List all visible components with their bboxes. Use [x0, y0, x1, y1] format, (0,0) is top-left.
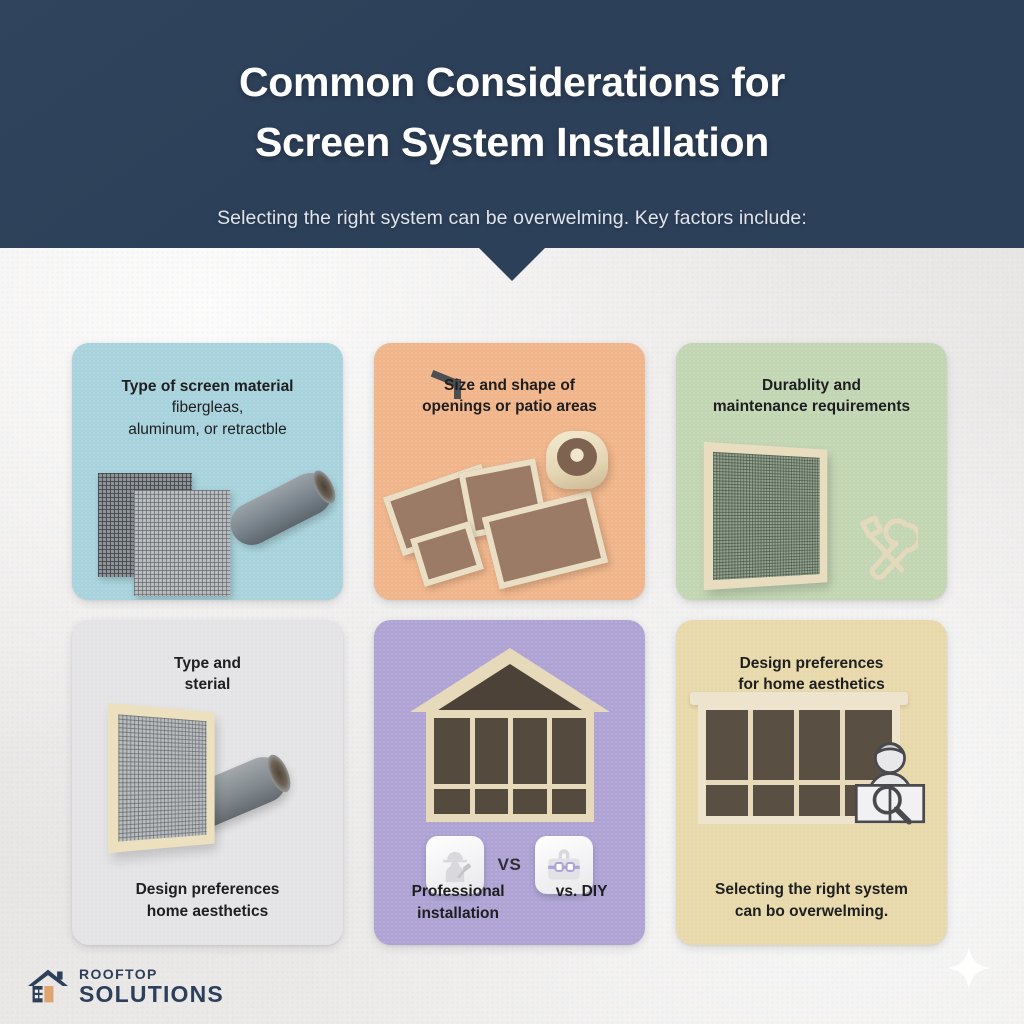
card-bottom-line-1: Design preferences [84, 879, 331, 901]
framed-screen-panel [108, 703, 215, 853]
card-bottom-text-block: Professional installation vs. DIY [374, 881, 645, 925]
card-top-line-1: Type and [86, 653, 329, 674]
window-mullion [748, 710, 753, 816]
tape-spool [557, 438, 597, 476]
inspector-with-magnifier-icon [849, 738, 931, 826]
logo-text-top: ROOFTOP [79, 967, 224, 981]
bottom-left-line-2: installation [412, 903, 505, 925]
card-screen-material[interactable]: Type of screen material fibergleas, alum… [72, 343, 343, 600]
card-title: Type of screen material [86, 376, 329, 397]
card-text-block: Type and sterial [72, 620, 343, 695]
screened-porch [398, 648, 622, 828]
card-title-line-1: Size and shape of [388, 375, 631, 396]
mesh-roll [223, 466, 338, 552]
card-title-line-2: for home aesthetics [690, 674, 933, 695]
card-text-block: Durablity and maintenance requirements [676, 343, 947, 417]
rooftop-house-icon [26, 966, 70, 1006]
card-top-line-2: sterial [86, 674, 329, 695]
header-notch-arrow [479, 248, 545, 281]
card-type-and-material[interactable]: Type and sterial Design preferences home… [72, 620, 343, 945]
card-design-preferences[interactable]: Design preferences for home aesthetics [676, 620, 947, 945]
porch-screen-wall [426, 710, 594, 822]
card-title-line-2: openings or patio areas [388, 396, 631, 417]
page-title: Common Considerations for Screen System … [0, 0, 1024, 172]
professional-installation-label: Professional installation [412, 881, 505, 925]
logo-text-bottom: SOLUTIONS [79, 983, 224, 1006]
logo-wordmark: ROOFTOP SOLUTIONS [79, 967, 224, 1006]
vs-label: VS [498, 855, 522, 875]
card-title-line-1: Design preferences [690, 653, 933, 674]
mesh-panel-light [134, 490, 230, 596]
window-mullion [794, 710, 799, 816]
page-header: Common Considerations for Screen System … [0, 0, 1024, 248]
card-text-block: Size and shape of openings or patio area… [374, 343, 645, 417]
card-title-line-1: Durablity and [690, 375, 933, 396]
card-bottom-line-2: home aesthetics [84, 901, 331, 923]
card-bottom-line-1: Selecting the right system [688, 879, 935, 901]
porch-mullion [508, 718, 513, 814]
porch-mullion [547, 718, 552, 814]
card-text-block: Design preferences for home aesthetics [676, 620, 947, 695]
brand-logo: ROOFTOP SOLUTIONS [26, 966, 224, 1006]
porch-gable-screen [435, 664, 585, 712]
mesh-roll-end [263, 752, 295, 796]
sparkle-decoration-icon [945, 944, 993, 992]
card-professional-vs-diy[interactable]: VS Professional installation vs. DIY [374, 620, 645, 945]
card-title-line-2: maintenance requirements [690, 396, 933, 417]
mesh-roll-end [308, 467, 339, 507]
framed-screen-panel [704, 442, 828, 590]
consideration-card-grid: Type of screen material fibergleas, alum… [72, 343, 948, 945]
window-mullion [840, 710, 845, 816]
tape-measure-icon [546, 431, 608, 489]
porch-mullion [470, 718, 475, 814]
page-title-line-2: Screen System Installation [0, 112, 1024, 172]
porch-rail [434, 784, 586, 789]
card-text-block: Type of screen material fibergleas, alum… [72, 343, 343, 441]
card-durability-maintenance[interactable]: Durablity and maintenance requirements [676, 343, 947, 600]
hammer-wrench-icon [846, 511, 918, 581]
page-subtitle: Selecting the right system can be overwe… [0, 205, 1024, 231]
bottom-left-line-1: Professional [412, 881, 505, 903]
diy-label: vs. DIY [556, 881, 608, 903]
card-bottom-text-block: Selecting the right system can bo overwe… [676, 879, 947, 923]
card-size-and-shape[interactable]: Size and shape of openings or patio area… [374, 343, 645, 600]
card-bottom-line-2: can bo overwelming. [688, 901, 935, 923]
card-subtitle-line-2: aluminum, or retractble [86, 419, 329, 441]
page-title-line-1: Common Considerations for [0, 52, 1024, 112]
card-subtitle-line-1: fibergleas, [86, 397, 329, 419]
card-bottom-text-block: Design preferences home aesthetics [72, 879, 343, 923]
